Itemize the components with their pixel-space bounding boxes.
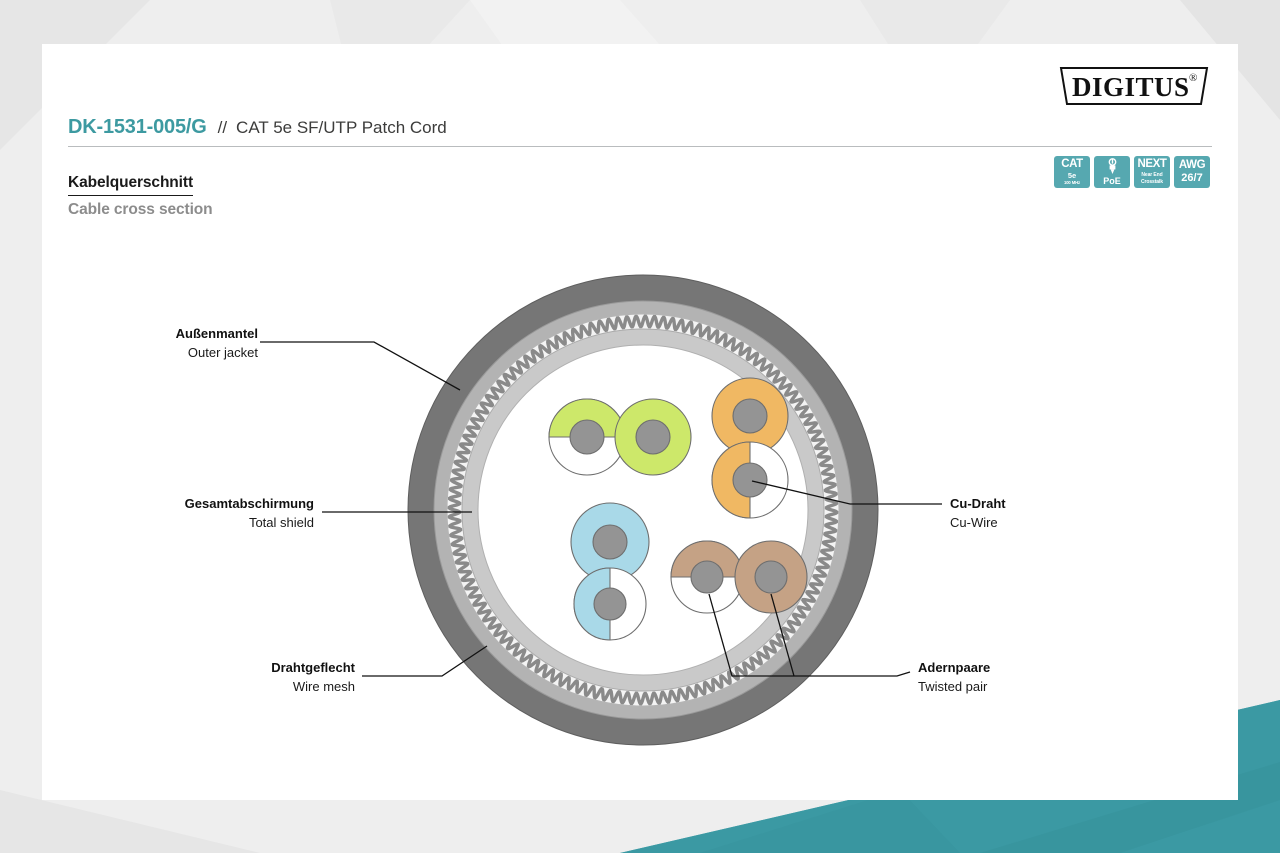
cu-core <box>594 588 626 620</box>
cable-body <box>408 275 878 745</box>
callout-wire-mesh: Drahtgeflecht Wire mesh <box>271 660 355 694</box>
cat-5e-badge-line3: 100 MHz <box>1064 181 1080 185</box>
pair-blue-striped-wire <box>574 568 646 640</box>
header-separator: // <box>218 118 227 138</box>
poe-badge-label: PoE <box>1103 177 1121 186</box>
product-description: CAT 5e SF/UTP Patch Cord <box>236 118 447 138</box>
cu-core <box>636 420 670 454</box>
poe-plug-icon <box>1105 158 1120 175</box>
product-header: DK-1531-005/G // CAT 5e SF/UTP Patch Cor… <box>68 116 1212 147</box>
pair-green-solid-wire <box>615 399 691 475</box>
leader-outer-jacket <box>260 342 460 390</box>
cat-5e-badge: CAT 5e 100 MHz <box>1054 156 1090 188</box>
next-badge-sub: Near EndCrosstalk <box>1141 172 1163 185</box>
pair-brown-striped-wire <box>671 541 743 613</box>
callout-outer-jacket: Außenmantel Outer jacket <box>176 326 259 360</box>
awg-badge-line2: 26/7 <box>1181 173 1202 184</box>
section-title-de: Kabelquerschnitt <box>68 174 193 196</box>
callout-twisted-pair: Adernpaare Twisted pair <box>918 660 990 694</box>
logo-wordmark: DIGITUS <box>1072 72 1190 102</box>
callout-cu-wire-en: Cu-Wire <box>950 515 998 530</box>
cu-core <box>733 463 767 497</box>
callout-total-shield-en: Total shield <box>249 515 314 530</box>
cu-core <box>691 561 723 593</box>
cu-core <box>593 525 627 559</box>
product-sku: DK-1531-005/G <box>68 116 207 139</box>
poe-badge: PoE <box>1094 156 1130 188</box>
digitus-logo: DIGITUS ® <box>1058 64 1210 108</box>
callout-twisted-pair-de: Adernpaare <box>918 660 990 675</box>
cu-core <box>755 561 787 593</box>
awg-badge: AWG 26/7 <box>1174 156 1210 188</box>
callout-total-shield-de: Gesamtabschirmung <box>185 496 314 511</box>
awg-badge-line1: AWG <box>1179 160 1205 172</box>
pair-orange-striped-wire <box>712 442 788 518</box>
callout-twisted-pair-en: Twisted pair <box>918 679 988 694</box>
slide-page: DIGITUS ® DK-1531-005/G // CAT 5e SF/UTP… <box>0 0 1280 853</box>
logo-trademark: ® <box>1189 72 1197 84</box>
next-badge-line1: NEXT <box>1137 159 1166 171</box>
pair-brown-solid-wire <box>735 541 807 613</box>
cable-cross-section-diagram: Außenmantel Outer jacket Gesamtabschirmu… <box>42 194 1238 754</box>
callout-cu-wire-de: Cu-Draht <box>950 496 1006 511</box>
callout-wire-mesh-de: Drahtgeflecht <box>271 660 355 675</box>
content-card: DIGITUS ® DK-1531-005/G // CAT 5e SF/UTP… <box>42 44 1238 800</box>
callout-wire-mesh-en: Wire mesh <box>293 679 355 694</box>
certification-badges: CAT 5e 100 MHz PoE NEXT Near EndCrosstal… <box>1054 156 1210 188</box>
cat-5e-badge-line2: 5e <box>1068 172 1076 180</box>
cu-core <box>570 420 604 454</box>
callout-cu-wire: Cu-Draht Cu-Wire <box>950 496 1006 530</box>
cu-core <box>733 399 767 433</box>
callout-outer-jacket-de: Außenmantel <box>176 326 258 341</box>
callout-outer-jacket-en: Outer jacket <box>188 345 258 360</box>
pair-green-striped-wire <box>549 399 625 475</box>
callout-total-shield: Gesamtabschirmung Total shield <box>185 496 314 530</box>
cat-5e-badge-line1: CAT <box>1061 159 1083 171</box>
next-badge: NEXT Near EndCrosstalk <box>1134 156 1170 188</box>
